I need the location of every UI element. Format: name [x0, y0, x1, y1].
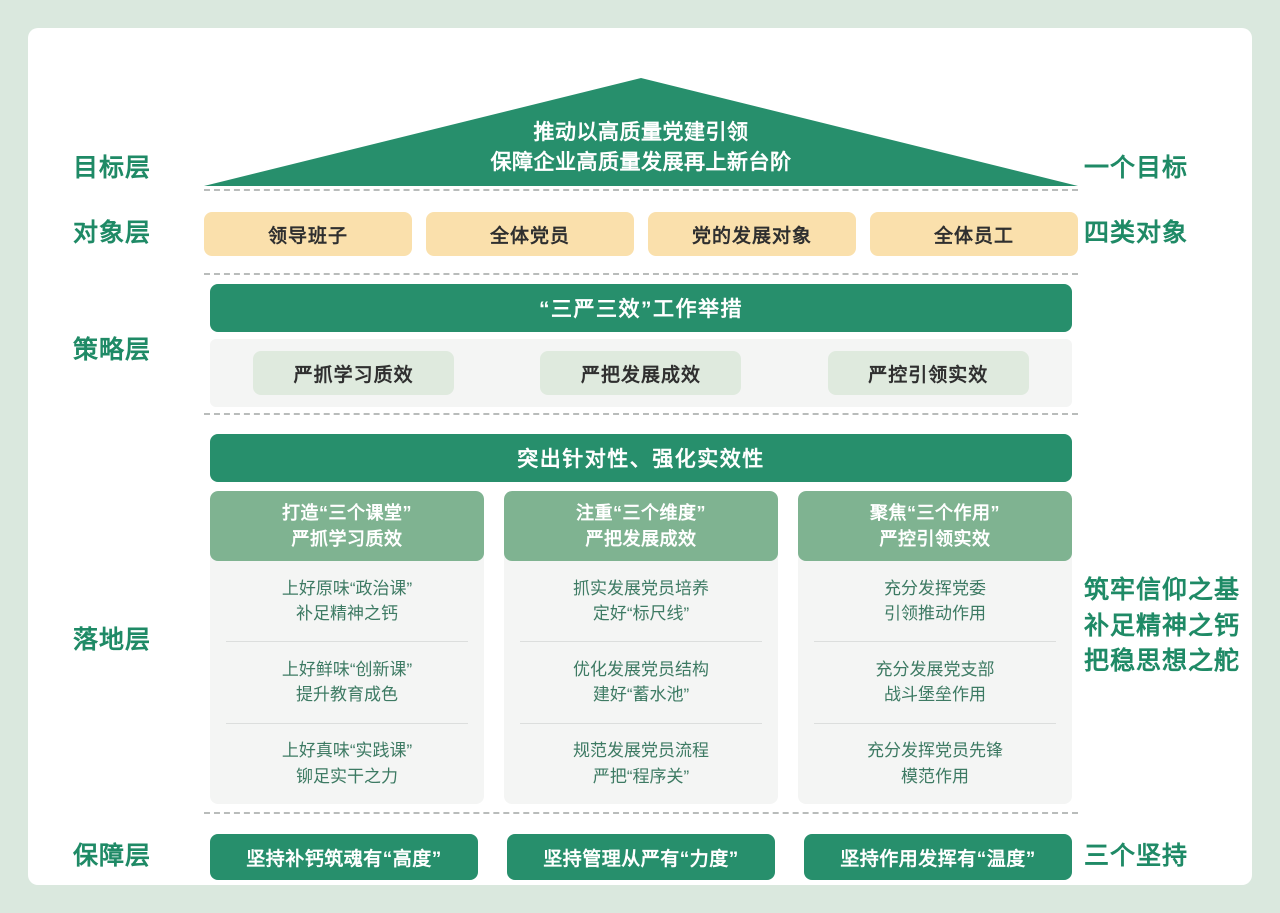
divider-goal-object	[204, 189, 1078, 191]
summary-label-guarantee: 三个坚持	[1084, 841, 1280, 872]
landing-column-header-line-1: 聚焦“三个作用”	[870, 500, 1000, 526]
landing-column-header-line-2: 严控引领实效	[880, 526, 991, 552]
divider-object-strategy	[204, 273, 1078, 275]
landing-column-header-line-2: 严抓学习质效	[292, 526, 403, 552]
diagram-page: 目标层 对象层 策略层 落地层 保障层 一个目标 四类对象 筑牢信仰之基 补足精…	[0, 0, 1280, 913]
guarantee-chip[interactable]: 坚持管理从严有“力度”	[507, 834, 775, 880]
object-chip[interactable]: 党的发展对象	[648, 212, 856, 256]
landing-item-line-2: 补足精神之钙	[296, 601, 398, 627]
layer-label-object: 对象层	[73, 218, 203, 249]
landing-column-header[interactable]: 注重“三个维度” 严把发展成效	[504, 491, 778, 561]
landing-item-line-2: 定好“标尺线”	[593, 601, 689, 627]
object-chip[interactable]: 全体员工	[870, 212, 1078, 256]
layer-label-landing: 落地层	[73, 625, 203, 656]
landing-column-body: 上好原味“政治课” 补足精神之钙 上好鲜味“创新课” 提升教育成色 上好真味“实…	[210, 561, 484, 804]
landing-item-line-1: 上好鲜味“创新课”	[282, 657, 412, 683]
landing-item: 充分发挥党员先锋 模范作用	[814, 723, 1056, 804]
guarantee-layer-row: 坚持补钙筑魂有“高度” 坚持管理从严有“力度” 坚持作用发挥有“温度”	[210, 833, 1072, 881]
landing-item-line-2: 严把“程序关”	[593, 764, 689, 790]
landing-item-line-2: 建好“蓄水池”	[593, 682, 689, 708]
summary-landing-line-2: 补足精神之钙	[1084, 609, 1280, 645]
landing-column-body: 充分发挥党委 引领推动作用 充分发展党支部 战斗堡垒作用 充分发挥党员先锋 模范…	[798, 561, 1072, 804]
landing-item-line-2: 战斗堡垒作用	[884, 682, 986, 708]
landing-item-line-1: 充分发挥党委	[884, 576, 986, 602]
landing-column-header-line-1: 打造“三个课堂”	[282, 500, 412, 526]
landing-column-body: 抓实发展党员培养 定好“标尺线” 优化发展党员结构 建好“蓄水池” 规范发展党员…	[504, 561, 778, 804]
divider-landing-guarantee	[204, 812, 1078, 814]
layer-label-strategy: 策略层	[73, 335, 203, 366]
landing-item: 规范发展党员流程 严把“程序关”	[520, 723, 762, 804]
landing-column-header-line-1: 注重“三个维度”	[576, 500, 706, 526]
divider-strategy-landing	[204, 413, 1078, 415]
landing-item-line-1: 抓实发展党员培养	[573, 576, 709, 602]
landing-column: 打造“三个课堂” 严抓学习质效 上好原味“政治课” 补足精神之钙 上好鲜味“创新…	[210, 491, 484, 804]
landing-item-line-1: 优化发展党员结构	[573, 657, 709, 683]
landing-column-header-line-2: 严把发展成效	[586, 526, 697, 552]
summary-label-object: 四类对象	[1084, 218, 1280, 249]
landing-column: 注重“三个维度” 严把发展成效 抓实发展党员培养 定好“标尺线” 优化发展党员结…	[504, 491, 778, 804]
landing-item-line-1: 充分发挥党员先锋	[867, 738, 1003, 764]
landing-item: 充分发展党支部 战斗堡垒作用	[814, 641, 1056, 722]
strategy-banner: “三严三效”工作举措	[210, 284, 1072, 332]
landing-item-line-1: 规范发展党员流程	[573, 738, 709, 764]
layer-label-guarantee: 保障层	[73, 841, 203, 872]
landing-banner: 突出针对性、强化实效性	[210, 434, 1072, 482]
layer-label-goal: 目标层	[73, 153, 203, 184]
landing-item: 上好原味“政治课” 补足精神之钙	[226, 561, 468, 641]
landing-item: 抓实发展党员培养 定好“标尺线”	[520, 561, 762, 641]
landing-item: 上好鲜味“创新课” 提升教育成色	[226, 641, 468, 722]
diagram-card: 目标层 对象层 策略层 落地层 保障层 一个目标 四类对象 筑牢信仰之基 补足精…	[28, 28, 1252, 885]
pyramid-shape-icon	[204, 78, 1078, 188]
landing-item-line-2: 铆足实干之力	[296, 764, 398, 790]
landing-item-line-2: 提升教育成色	[296, 682, 398, 708]
landing-item: 优化发展党员结构 建好“蓄水池”	[520, 641, 762, 722]
guarantee-chip[interactable]: 坚持作用发挥有“温度”	[804, 834, 1072, 880]
landing-item-line-2: 模范作用	[901, 764, 969, 790]
landing-item: 充分发挥党委 引领推动作用	[814, 561, 1056, 641]
landing-item-line-1: 充分发展党支部	[876, 657, 995, 683]
landing-item-line-2: 引领推动作用	[884, 601, 986, 627]
strategy-pill[interactable]: 严控引领实效	[828, 351, 1029, 395]
landing-column: 聚焦“三个作用” 严控引领实效 充分发挥党委 引领推动作用 充分发展党支部 战斗…	[798, 491, 1072, 804]
summary-landing-line-3: 把稳思想之舵	[1084, 644, 1280, 680]
object-chip[interactable]: 全体党员	[426, 212, 634, 256]
landing-item-line-1: 上好真味“实践课”	[282, 738, 412, 764]
landing-column-header[interactable]: 聚焦“三个作用” 严控引领实效	[798, 491, 1072, 561]
goal-pyramid: 推动以高质量党建引领 保障企业高质量发展再上新台阶	[204, 78, 1078, 188]
landing-column-header[interactable]: 打造“三个课堂” 严抓学习质效	[210, 491, 484, 561]
strategy-panel: 严抓学习质效 严把发展成效 严控引领实效	[210, 339, 1072, 407]
landing-layer-row: 打造“三个课堂” 严抓学习质效 上好原味“政治课” 补足精神之钙 上好鲜味“创新…	[210, 491, 1072, 804]
landing-item-line-1: 上好原味“政治课”	[282, 576, 412, 602]
landing-item: 上好真味“实践课” 铆足实干之力	[226, 723, 468, 804]
object-chip[interactable]: 领导班子	[204, 212, 412, 256]
strategy-pill[interactable]: 严抓学习质效	[253, 351, 454, 395]
strategy-pill[interactable]: 严把发展成效	[540, 351, 741, 395]
guarantee-chip[interactable]: 坚持补钙筑魂有“高度”	[210, 834, 478, 880]
summary-landing-line-1: 筑牢信仰之基	[1084, 573, 1280, 609]
object-layer-row: 领导班子 全体党员 党的发展对象 全体员工	[204, 210, 1078, 258]
summary-label-goal: 一个目标	[1084, 153, 1280, 184]
summary-label-landing: 筑牢信仰之基 补足精神之钙 把稳思想之舵	[1084, 573, 1280, 680]
